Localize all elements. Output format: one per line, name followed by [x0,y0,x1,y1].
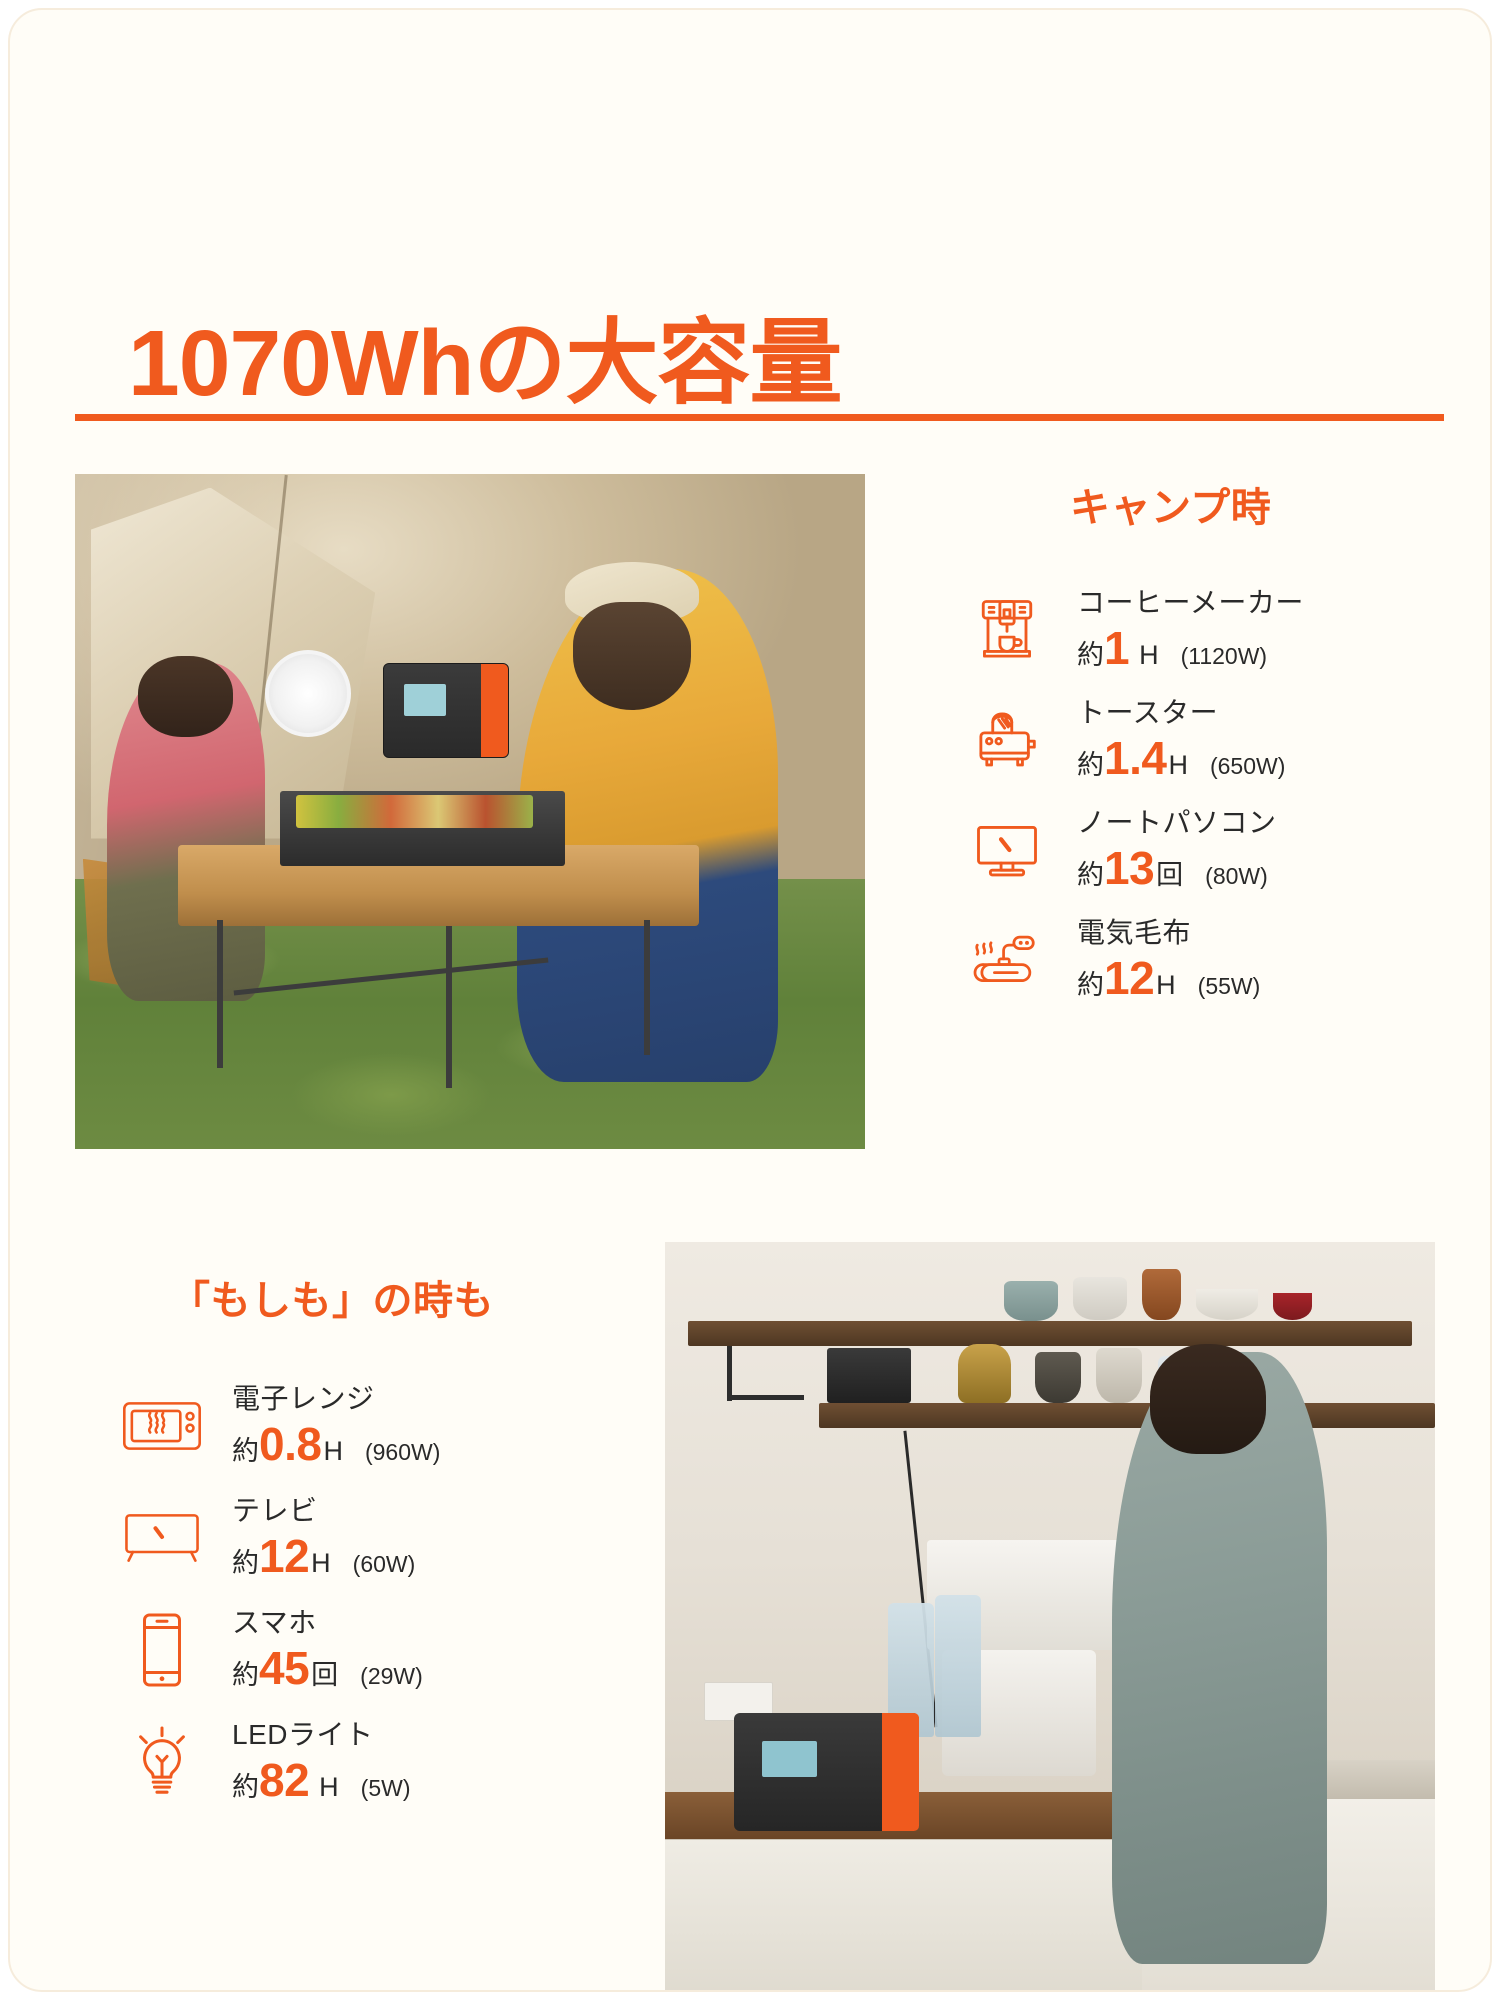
microwave-icon [110,1393,214,1459]
wattage-label: (55W) [1198,973,1261,1000]
section-heading-camp: キャンプ時 [1070,475,1271,533]
list-item: 電子レンジ 約 0.8 H (960W) [110,1370,560,1482]
appliance-name: トースター [1077,698,1285,728]
runtime-unit: 回 [1156,853,1183,892]
kitchen-photo [665,1242,1435,1992]
list-item: ノートパソコン 約 13 回 (80W) [955,795,1425,905]
approx-label: 約 [232,1429,259,1468]
toaster-icon [955,702,1059,778]
appliance-name: テレビ [232,1496,415,1526]
wattage-label: (5W) [361,1775,411,1802]
portable-power-station-camp [383,663,509,758]
list-item: コーヒーメーカー 約 1 H (1120W) [955,575,1425,685]
runtime-unit: H [311,1548,331,1579]
wattage-label: (29W) [360,1663,423,1690]
approx-label: 約 [1077,633,1104,672]
wattage-label: (60W) [353,1551,416,1578]
list-item: トースター 約 1.4 H (650W) [955,685,1425,795]
wattage-label: (1120W) [1181,643,1268,670]
approx-label: 約 [232,1765,259,1804]
promo-card: 1070Whの大容量 1500Wの出力 [8,8,1492,1992]
runtime-unit: H [319,1772,339,1803]
runtime-unit: H [1139,640,1159,671]
headline-line-1: 1070Whの大容量 [128,310,841,418]
runtime-unit: H [1156,970,1176,1001]
list-item: 電気毛布 約 12 H (55W) [955,905,1425,1015]
portable-power-station-kitchen [734,1713,919,1831]
television-icon [110,1505,214,1571]
smartphone-icon [110,1610,214,1690]
list-item: スマホ 約 45 回 (29W) [110,1594,560,1706]
appliance-name: 電気毛布 [1077,918,1260,948]
list-item: テレビ 約 12 H (60W) [110,1482,560,1594]
approx-label: 約 [1077,853,1104,892]
approx-label: 約 [1077,743,1104,782]
runtime-unit: H [323,1436,343,1467]
runtime-value: 0.8 [259,1421,321,1467]
coffee-maker-icon [955,592,1059,668]
appliance-name: スマホ [232,1608,423,1638]
runtime-unit: H [1168,750,1188,781]
appliance-list-emergency: 電子レンジ 約 0.8 H (960W) テレビ [110,1370,560,1818]
lightbulb-icon [110,1723,214,1801]
camp-photo [75,474,865,1149]
approx-label: 約 [1077,963,1104,1002]
runtime-unit: 回 [311,1653,338,1692]
list-item: LEDライト 約 82 H (5W) [110,1706,560,1818]
runtime-value: 45 [259,1645,309,1691]
appliance-name: コーヒーメーカー [1077,588,1304,618]
laptop-icon [955,812,1059,888]
runtime-value: 1 [1104,625,1129,671]
approx-label: 約 [232,1653,259,1692]
appliance-name: 電子レンジ [232,1384,440,1414]
runtime-value: 82 [259,1757,309,1803]
appliance-name: LEDライト [232,1720,411,1750]
approx-label: 約 [232,1541,259,1580]
runtime-value: 13 [1104,845,1154,891]
runtime-value: 12 [1104,955,1154,1001]
wattage-label: (650W) [1210,753,1285,780]
title-divider [75,414,1444,421]
appliance-list-camp: コーヒーメーカー 約 1 H (1120W) [955,575,1425,1015]
runtime-value: 12 [259,1533,309,1579]
appliance-name: ノートパソコン [1077,808,1277,838]
wattage-label: (80W) [1205,863,1268,890]
electric-blanket-icon [955,922,1059,998]
wattage-label: (960W) [365,1439,440,1466]
section-heading-emergency: 「もしも」の時も [170,1268,494,1326]
runtime-value: 1.4 [1104,735,1166,781]
